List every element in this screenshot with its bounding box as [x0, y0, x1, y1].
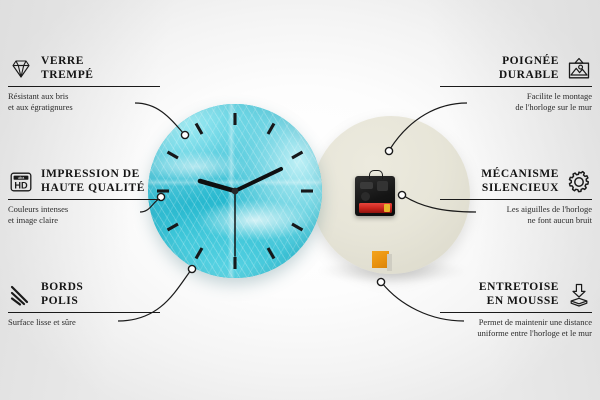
callout-subtitle: Résistant aux bris et aux égratignures	[8, 91, 160, 112]
clock-mechanism	[355, 176, 395, 216]
ultra-hd-icon: ultra HD	[8, 169, 34, 195]
gear-icon	[566, 169, 592, 195]
subtitle-line-2: et aux égratignures	[8, 102, 160, 113]
callout-bords-polis: BORDS POLIS Surface lisse et sûre	[8, 281, 160, 328]
subtitle-line-2: ne font aucun bruit	[440, 215, 592, 226]
callout-divider	[8, 199, 160, 200]
title-line-2: SILENCIEUX	[481, 182, 559, 196]
callout-divider	[440, 199, 592, 200]
product-infographic: VERRE TREMPÉ Résistant aux bris et aux é…	[0, 0, 600, 400]
mechanism-detail	[360, 182, 373, 189]
callout-subtitle: Facilite le montage de l'horloge sur le …	[440, 91, 592, 112]
callout-poignee-durable: POIGNÉE DURABLE Facilite le montage de l…	[440, 55, 592, 112]
battery	[359, 203, 392, 213]
callout-divider	[8, 312, 160, 313]
title-line-1: VERRE	[41, 55, 94, 69]
clock-hands	[200, 169, 281, 256]
subtitle-line-1: Couleurs intenses	[8, 204, 160, 215]
callout-subtitle: Permet de maintenir une distance uniform…	[440, 317, 592, 338]
title-line-1: MÉCANISME	[481, 168, 559, 182]
mechanism-hanger-icon	[369, 170, 383, 179]
callout-subtitle: Couleurs intenses et image claire	[8, 204, 160, 225]
subtitle-line-1: Surface lisse et sûre	[8, 317, 160, 328]
callout-title: MÉCANISME SILENCIEUX	[481, 168, 559, 195]
callout-subtitle: Les aiguilles de l'horloge ne font aucun…	[440, 204, 592, 225]
hd-badge-bottom: HD	[14, 180, 28, 190]
title-line-2: EN MOUSSE	[479, 295, 559, 309]
subtitle-line-2: uniforme entre l'horloge et le mur	[440, 328, 592, 339]
title-line-1: ENTRETOISE	[479, 281, 559, 295]
subtitle-line-2: et image claire	[8, 215, 160, 226]
callout-entretoise-en-mousse: ENTRETOISE EN MOUSSE Permet de maintenir…	[440, 281, 592, 338]
callout-divider	[440, 86, 592, 87]
clock-dial	[148, 104, 322, 278]
title-line-2: POLIS	[41, 295, 83, 309]
callout-title: IMPRESSION DE HAUTE QUALITÉ	[41, 168, 145, 195]
callout-header: VERRE TREMPÉ	[8, 55, 160, 82]
hands-hub	[232, 188, 239, 195]
callout-mecanisme-silencieux: MÉCANISME SILENCIEUX Les aiguilles de l'…	[440, 168, 592, 225]
battery-band	[384, 204, 390, 212]
callout-title: VERRE TREMPÉ	[41, 55, 94, 82]
title-line-2: DURABLE	[499, 69, 559, 83]
callout-header: POIGNÉE DURABLE	[440, 55, 592, 82]
callout-impression-haute-qualite: ultra HD IMPRESSION DE HAUTE QUALITÉ Cou…	[8, 168, 160, 225]
mechanism-detail	[377, 181, 388, 191]
subtitle-line-1: Les aiguilles de l'horloge	[440, 204, 592, 215]
title-line-1: BORDS	[41, 281, 83, 295]
subtitle-line-2: de l'horloge sur le mur	[440, 102, 592, 113]
callout-verre-trempe: VERRE TREMPÉ Résistant aux bris et aux é…	[8, 55, 160, 112]
callout-header: MÉCANISME SILENCIEUX	[440, 168, 592, 195]
mechanism-detail	[361, 192, 370, 201]
title-line-1: POIGNÉE	[499, 55, 559, 69]
foam-spacer-icon	[566, 282, 592, 308]
callout-header: BORDS POLIS	[8, 281, 160, 308]
callout-divider	[8, 86, 160, 87]
polished-edges-icon	[8, 282, 34, 308]
callout-title: BORDS POLIS	[41, 281, 83, 308]
title-line-2: TREMPÉ	[41, 69, 94, 83]
callout-header: ultra HD IMPRESSION DE HAUTE QUALITÉ	[8, 168, 160, 195]
callout-title: POIGNÉE DURABLE	[499, 55, 559, 82]
minute-hand	[235, 169, 281, 191]
subtitle-line-1: Permet de maintenir une distance	[440, 317, 592, 328]
hour-hand	[200, 181, 235, 191]
callout-header: ENTRETOISE EN MOUSSE	[440, 281, 592, 308]
picture-hanger-icon	[566, 56, 592, 82]
subtitle-line-1: Facilite le montage	[440, 91, 592, 102]
callout-subtitle: Surface lisse et sûre	[8, 317, 160, 328]
title-line-2: HAUTE QUALITÉ	[41, 182, 145, 196]
subtitle-line-1: Résistant aux bris	[8, 91, 160, 102]
diamond-icon	[8, 56, 34, 82]
callout-divider	[440, 312, 592, 313]
title-line-1: IMPRESSION DE	[41, 168, 145, 182]
foam-spacer	[372, 251, 389, 268]
callout-title: ENTRETOISE EN MOUSSE	[479, 281, 559, 308]
